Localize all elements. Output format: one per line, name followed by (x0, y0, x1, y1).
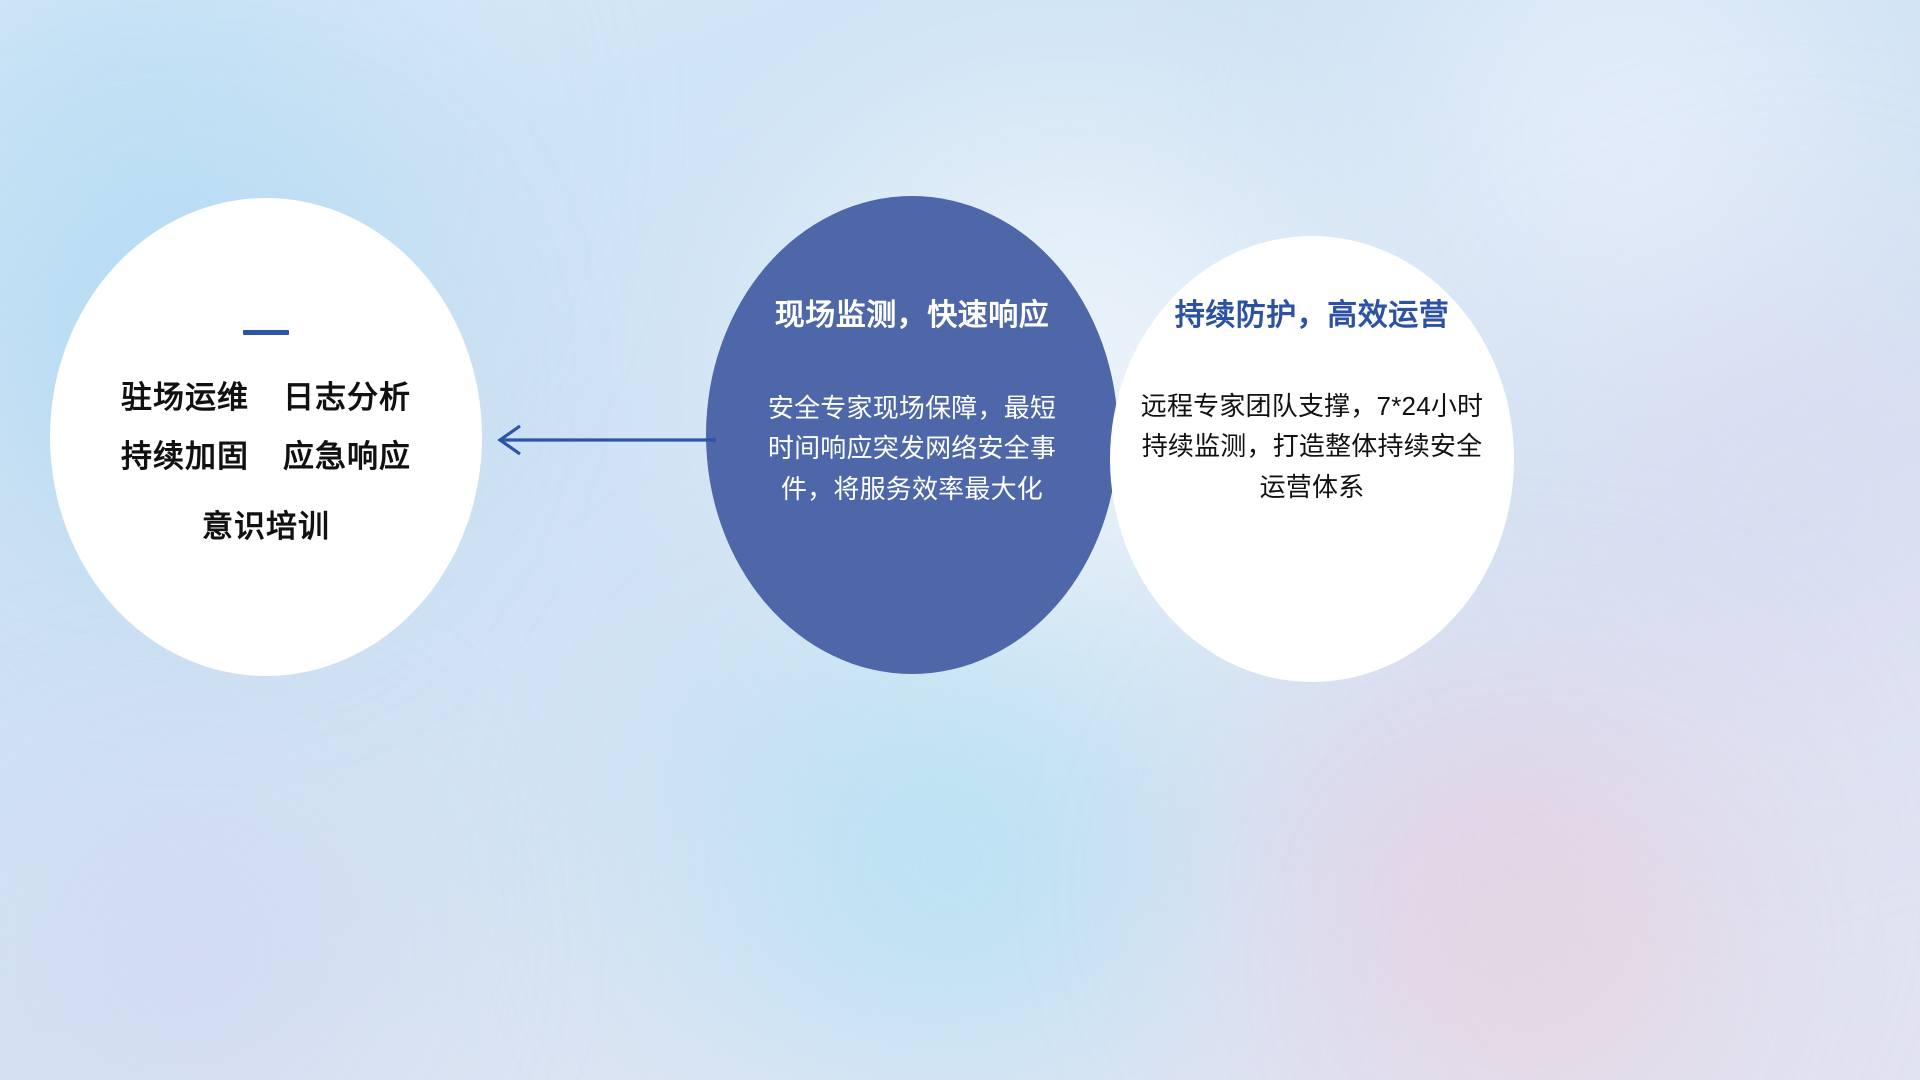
left-keyword: 驻场运维 (121, 381, 249, 415)
left-keyword-row: 驻场运维 日志分析 (121, 381, 411, 415)
middle-circle-body: 安全专家现场保障，最短时间响应突发网络安全事件，将服务效率最大化 (764, 388, 1060, 509)
left-keyword: 应急响应 (283, 440, 411, 474)
right-circle-body: 远程专家团队支撑，7*24小时持续监测，打造整体持续安全运营体系 (1139, 386, 1485, 507)
right-operations-circle[interactable]: 持续防护，高效运营 远程专家团队支撑，7*24小时持续监测，打造整体持续安全运营… (1110, 236, 1514, 682)
middle-onsite-circle[interactable]: 现场监测，快速响应 安全专家现场保障，最短时间响应突发网络安全事件，将服务效率最… (706, 196, 1118, 674)
middle-circle-content: 现场监测，快速响应 安全专家现场保障，最短时间响应突发网络安全事件，将服务效率最… (706, 196, 1118, 674)
left-capability-circle[interactable]: 驻场运维 日志分析 持续加固 应急响应 意识培训 (50, 198, 482, 676)
left-keyword-row: 意识培训 (202, 510, 330, 544)
left-keyword-list: 驻场运维 日志分析 持续加固 应急响应 意识培训 (121, 381, 411, 543)
left-keyword-row: 持续加固 应急响应 (121, 440, 411, 474)
left-keyword: 持续加固 (121, 440, 249, 474)
diagram-stage: 驻场运维 日志分析 持续加固 应急响应 意识培训 现场监测，快速响应 安全专家现… (0, 0, 1920, 1080)
left-keyword: 意识培训 (202, 510, 330, 544)
divider-dash-icon (243, 330, 289, 335)
left-circle-content: 驻场运维 日志分析 持续加固 应急响应 意识培训 (50, 198, 482, 676)
left-arrow-icon (480, 412, 720, 468)
right-circle-content: 持续防护，高效运营 远程专家团队支撑，7*24小时持续监测，打造整体持续安全运营… (1110, 236, 1514, 682)
middle-circle-title: 现场监测，快速响应 (775, 298, 1050, 334)
right-circle-title: 持续防护，高效运营 (1175, 298, 1450, 334)
left-keyword: 日志分析 (283, 381, 411, 415)
